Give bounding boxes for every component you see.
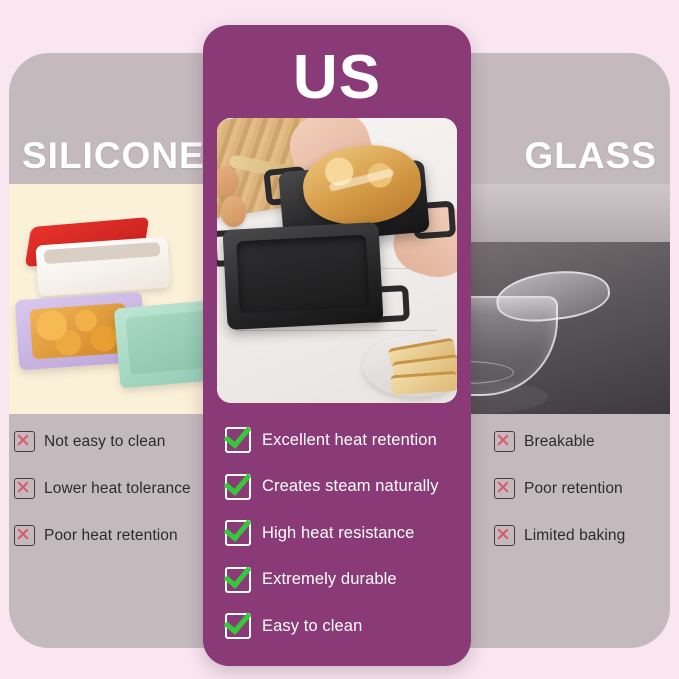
list-item: Breakable [494,431,670,452]
check-mark-icon [225,613,251,639]
list-item-label: Limited baking [524,527,625,545]
white-silicone-pan [35,236,170,296]
list-item: Creates steam naturally [225,474,461,500]
list-item: Poor retention [494,478,670,499]
us-benefit-list: Excellent heat retention Creates steam n… [225,427,461,660]
list-item: High heat resistance [225,520,461,546]
list-item-label: Breakable [524,433,595,451]
marble-vein [237,330,437,331]
check-mark-icon [225,520,251,546]
x-mark-icon [494,525,515,546]
x-mark-icon [494,431,515,452]
us-scene [217,118,457,403]
list-item-label: Extremely durable [262,570,397,589]
column-title-us: US [203,47,471,109]
x-mark-icon [14,478,35,499]
comparison-infographic: SILICONE Not easy to clean Lower heat to… [0,0,679,679]
list-item: Extremely durable [225,567,461,593]
list-item-label: Easy to clean [262,617,362,636]
list-item-label: Excellent heat retention [262,431,437,450]
x-mark-icon [14,525,35,546]
list-item: Easy to clean [225,613,461,639]
x-mark-icon [494,478,515,499]
comparison-column-us: US [203,25,471,666]
list-item-label: High heat resistance [262,524,414,543]
list-item-label: Poor retention [524,480,623,498]
check-mark-icon [225,427,251,453]
cast-iron-pan-bottom [222,222,383,330]
us-product-photo [217,118,457,403]
check-mark-icon [225,474,251,500]
bread-loaf [29,303,128,360]
bread-slice [390,371,457,396]
egg [221,196,246,227]
x-mark-icon [14,431,35,452]
list-item-label: Poor heat retention [44,527,178,545]
list-item-label: Not easy to clean [44,433,165,451]
column-title-glass: GLASS [525,137,657,174]
list-item: Limited baking [494,525,670,546]
list-item: Excellent heat retention [225,427,461,453]
list-item-label: Creates steam naturally [262,477,439,496]
column-title-silicone: SILICONE [22,137,205,174]
check-mark-icon [225,567,251,593]
list-item-label: Lower heat tolerance [44,480,191,498]
